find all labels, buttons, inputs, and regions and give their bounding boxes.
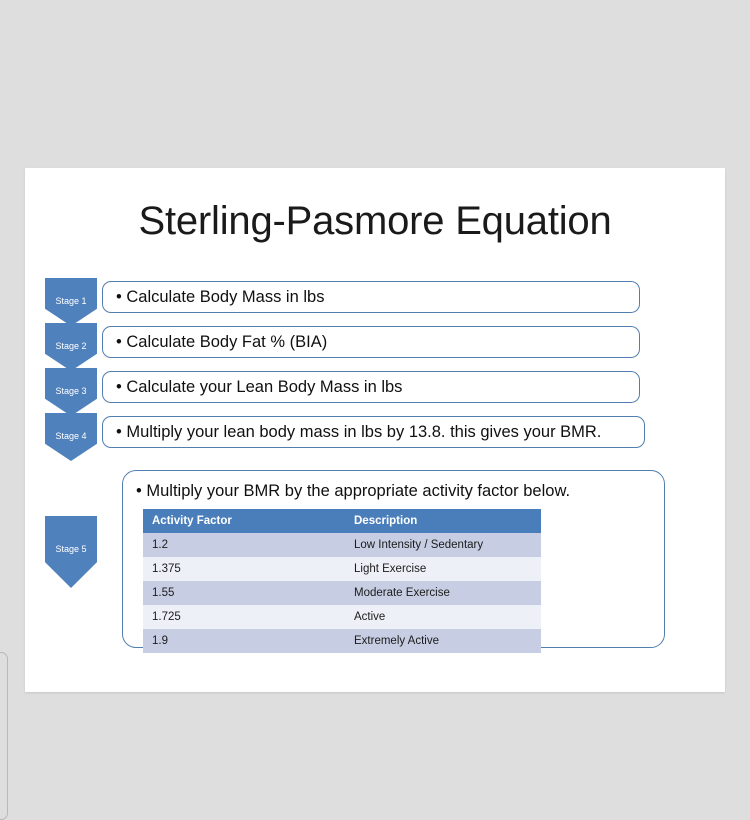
presentation-slide: Sterling-Pasmore Equation Stage 1 • Calc… <box>25 168 725 692</box>
stage-chevron-1[interactable]: Stage 1 <box>45 278 97 326</box>
stage-text-2: • Calculate Body Fat % (BIA) <box>103 332 327 353</box>
stage-box-1[interactable]: • Calculate Body Mass in lbs <box>102 281 640 313</box>
cell-description: Extremely Active <box>345 629 541 653</box>
cell-description: Active <box>345 605 541 629</box>
column-header-activity-factor: Activity Factor <box>143 509 345 533</box>
cell-activity-factor: 1.725 <box>143 605 345 629</box>
stage-chevron-5[interactable]: Stage 5 <box>45 516 97 588</box>
stage-text-3: • Calculate your Lean Body Mass in lbs <box>103 377 402 398</box>
cell-description: Moderate Exercise <box>345 581 541 605</box>
stage-label-5: Stage 5 <box>55 544 86 555</box>
process-diagram: Stage 1 • Calculate Body Mass in lbs Sta… <box>25 278 725 678</box>
activity-factor-table: Activity Factor Description 1.2 Low Inte… <box>143 509 541 653</box>
stage-text-1: • Calculate Body Mass in lbs <box>103 287 324 308</box>
cell-description: Low Intensity / Sedentary <box>345 533 541 557</box>
table-row: 1.55 Moderate Exercise <box>143 581 541 605</box>
table-row: 1.9 Extremely Active <box>143 629 541 653</box>
page-title: Sterling-Pasmore Equation <box>25 198 725 244</box>
stage-label-4: Stage 4 <box>55 431 86 442</box>
stage-chevron-2[interactable]: Stage 2 <box>45 323 97 371</box>
stage-box-2[interactable]: • Calculate Body Fat % (BIA) <box>102 326 640 358</box>
stage-box-4[interactable]: • Multiply your lean body mass in lbs by… <box>102 416 645 448</box>
cell-activity-factor: 1.9 <box>143 629 345 653</box>
stage-label-2: Stage 2 <box>55 341 86 352</box>
stage-text-4: • Multiply your lean body mass in lbs by… <box>103 422 601 443</box>
table-row: 1.2 Low Intensity / Sedentary <box>143 533 541 557</box>
cell-activity-factor: 1.2 <box>143 533 345 557</box>
stage-box-5[interactable]: • Multiply your BMR by the appropriate a… <box>122 470 665 648</box>
left-edge-panel <box>0 652 8 820</box>
stage-chevron-4[interactable]: Stage 4 <box>45 413 97 461</box>
table-row: 1.725 Active <box>143 605 541 629</box>
stage-label-1: Stage 1 <box>55 296 86 307</box>
stage-chevron-3[interactable]: Stage 3 <box>45 368 97 416</box>
cell-activity-factor: 1.55 <box>143 581 345 605</box>
cell-description: Light Exercise <box>345 557 541 581</box>
stage-box-3[interactable]: • Calculate your Lean Body Mass in lbs <box>102 371 640 403</box>
column-header-description: Description <box>345 509 541 533</box>
cell-activity-factor: 1.375 <box>143 557 345 581</box>
stage-label-3: Stage 3 <box>55 386 86 397</box>
table-header-row: Activity Factor Description <box>143 509 541 533</box>
stage-text-5: • Multiply your BMR by the appropriate a… <box>136 481 570 502</box>
table-row: 1.375 Light Exercise <box>143 557 541 581</box>
